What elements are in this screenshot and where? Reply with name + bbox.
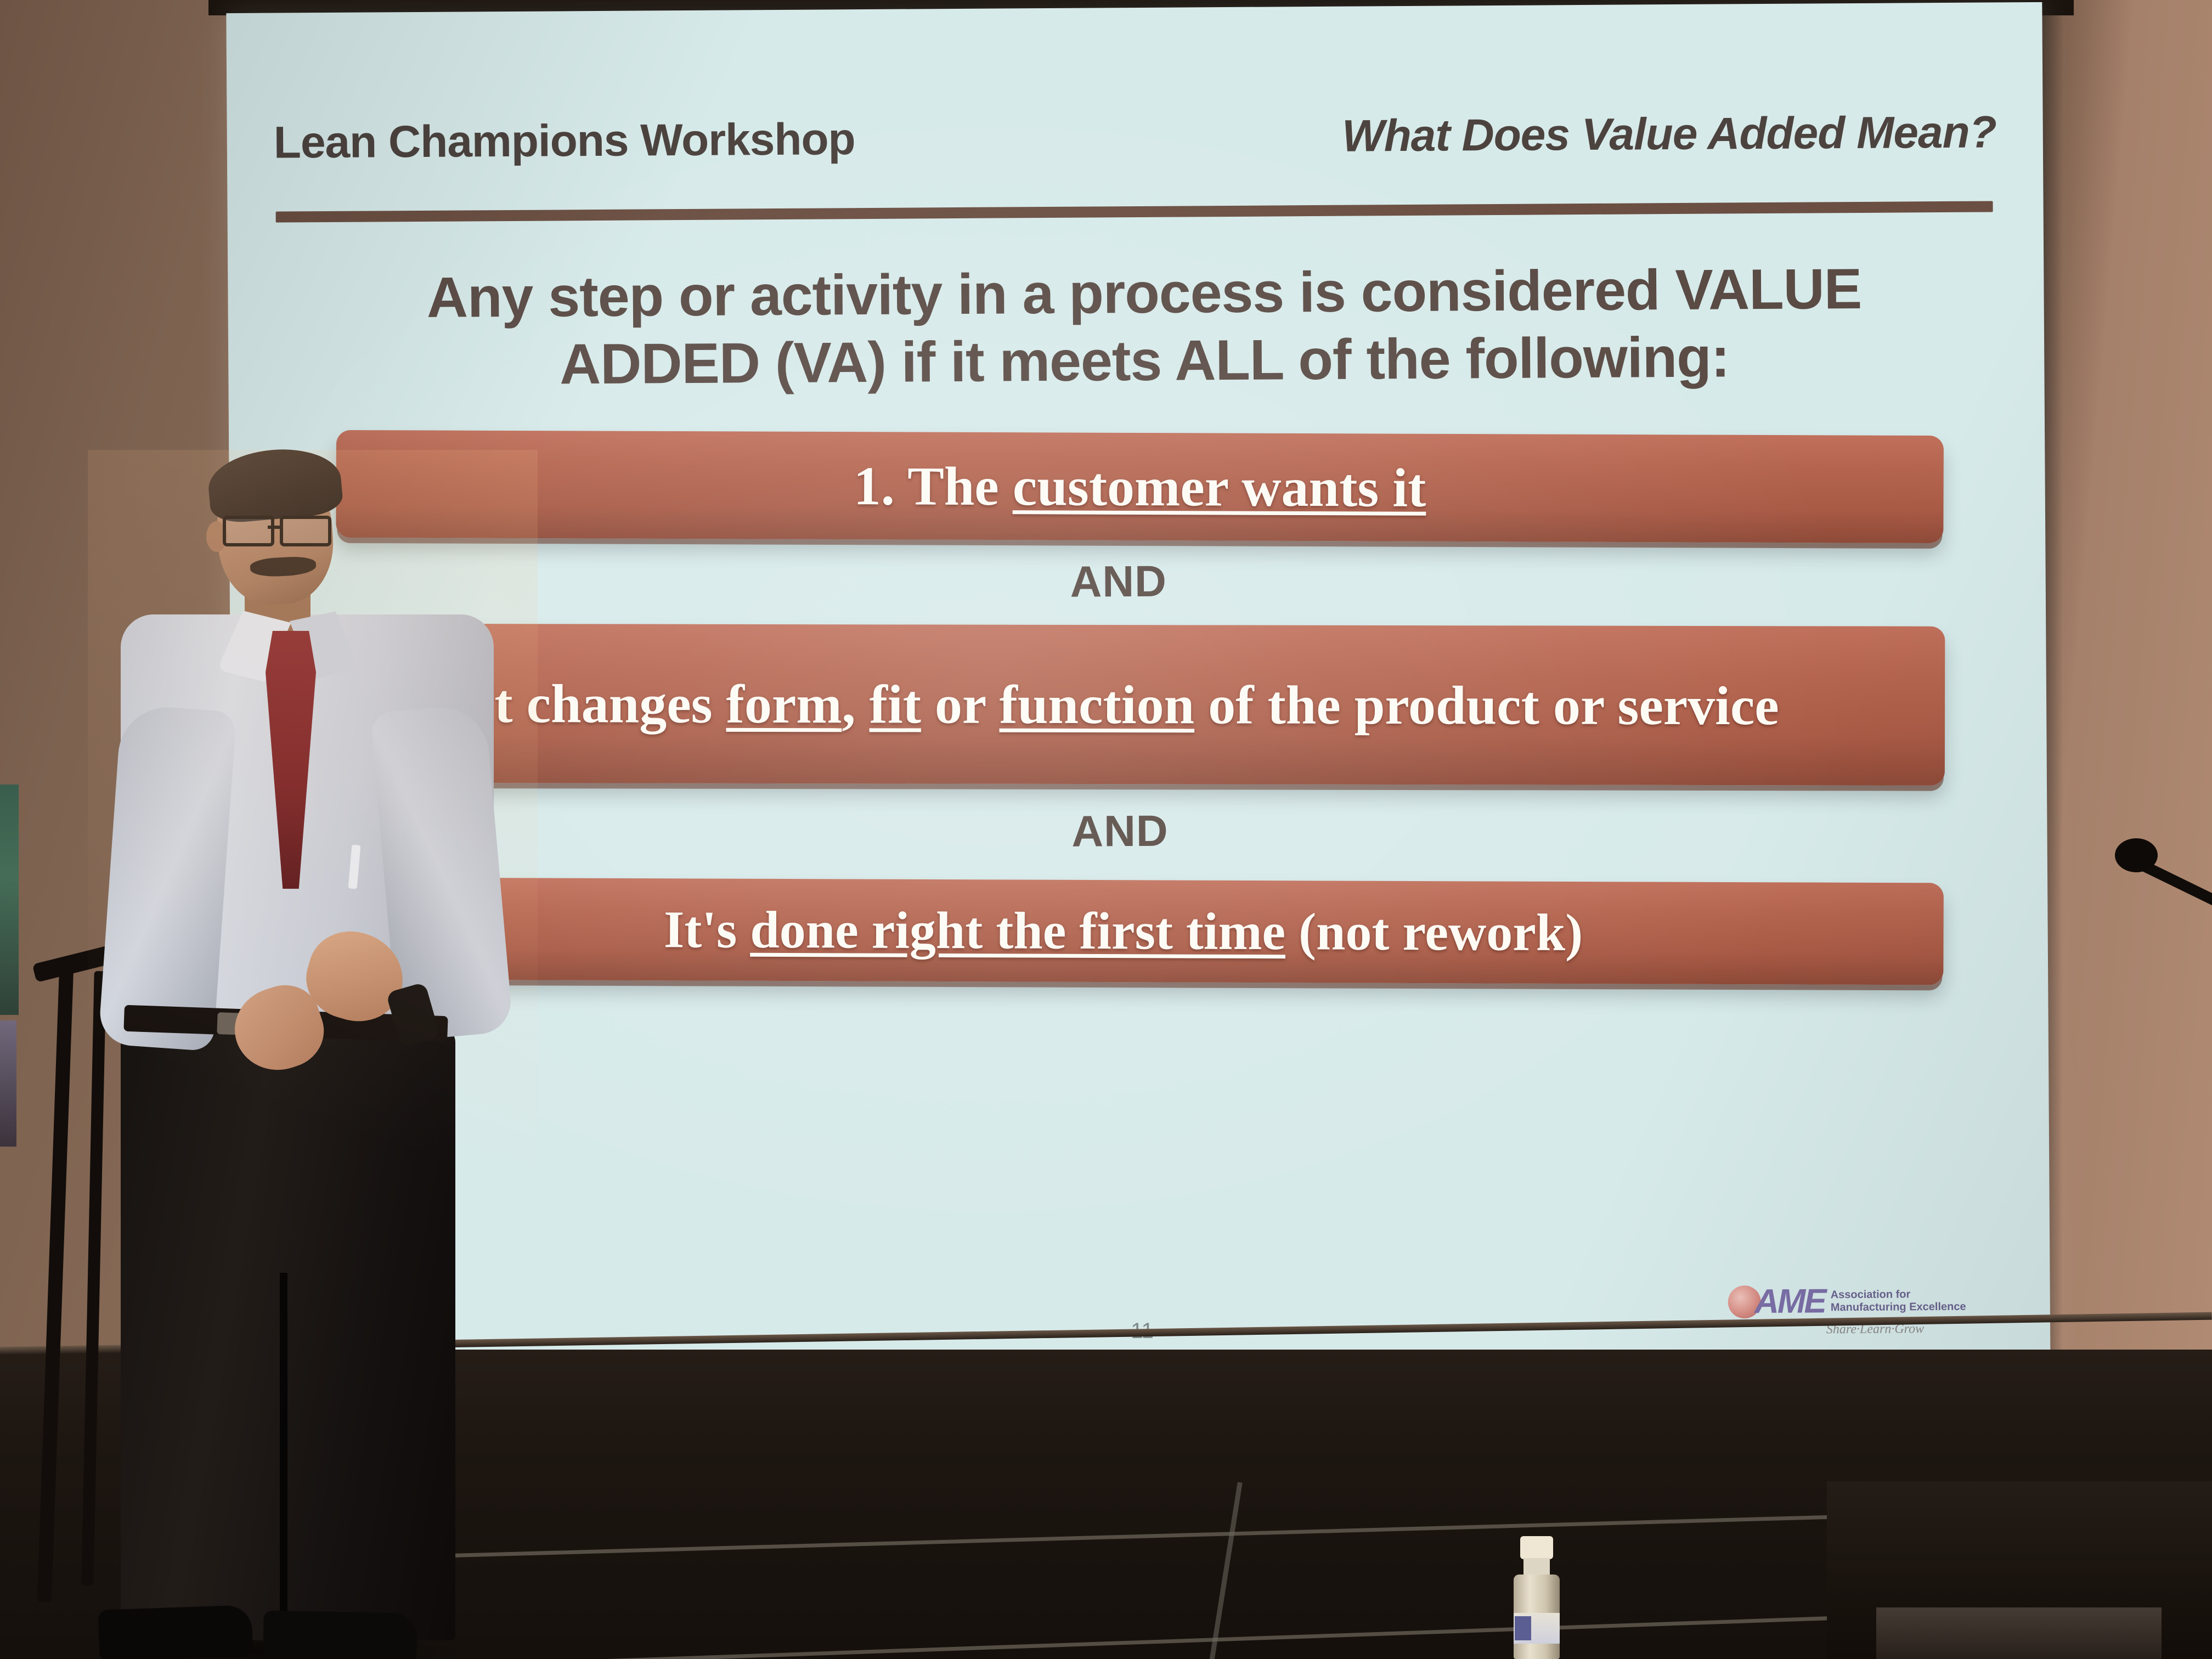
criterion-2-text: It changes form, fit or function of the … [473,672,1779,737]
glasses-right-lens [280,516,331,546]
presenter [88,450,538,1659]
criterion-3-prefix: It's [664,900,751,959]
criterion-3-emphasis: done right the first time [750,900,1285,961]
glasses-left-lens [223,516,274,546]
left-window-sliver-lower [0,1020,16,1147]
workshop-title: Lean Champions Workshop [274,114,855,168]
presenter-right-shoe [263,1611,417,1659]
right-stage-block-top [1876,1607,2162,1659]
ame-acronym: AME [1754,1282,1825,1321]
criterion-bar-3: It's done right the first time (not rewo… [303,877,1944,985]
ame-full-name: Association for Manufacturing Excellence [1831,1288,1968,1314]
glasses-bridge [268,526,281,529]
left-window-sliver [0,785,19,1015]
presenter-trousers [121,1026,455,1640]
presenter-hair [206,444,344,525]
criterion-1-emphasis: customer wants it [1013,456,1426,518]
criterion-2-emphasis-fit: fit [869,674,921,735]
water-bottle [1511,1536,1562,1659]
criterion-3-text: It's done right the first time (not rewo… [664,899,1583,963]
criterion-2-sep-2: or [921,674,1000,735]
bottle-cap [1520,1536,1553,1559]
presenter-left-arm [98,704,237,1051]
criterion-2-emphasis-form: form [726,673,842,734]
ame-logo: AME Association for Manufacturing Excell… [1728,1281,1968,1322]
criterion-2-emphasis-function: function [999,674,1194,735]
microphone-icon [2115,838,2158,872]
slide-header: Lean Champions Workshop What Does Value … [274,106,1997,168]
criterion-1-prefix: 1. The [854,455,1013,517]
criterion-3-suffix: (not rework) [1285,902,1583,962]
presenter-leg-seam [280,1273,287,1640]
presentation-photo: Lean Champions Workshop What Does Value … [0,0,2212,1659]
header-divider-rule [276,201,1993,222]
criterion-1-text: 1. The customer wants it [854,454,1426,520]
slide-intro-text: Any step or activity in a process is con… [392,256,1896,399]
criterion-2-sep-1: , [842,674,869,735]
connector-and-2: AND [297,801,1943,861]
criterion-2-suffix: of the product or service [1194,674,1779,736]
glasses-icon [223,516,332,541]
presenter-left-shoe [98,1605,253,1659]
bottle-label [1514,1613,1560,1644]
criterion-bar-2: It changes form, fit or function of the … [307,624,1945,786]
criterion-bar-1: 1. The customer wants it [336,430,1944,543]
slide-title: What Does Value Added Mean? [1342,106,1996,162]
connector-and-1: AND [295,551,1942,612]
bottle-label-accent [1515,1616,1531,1640]
